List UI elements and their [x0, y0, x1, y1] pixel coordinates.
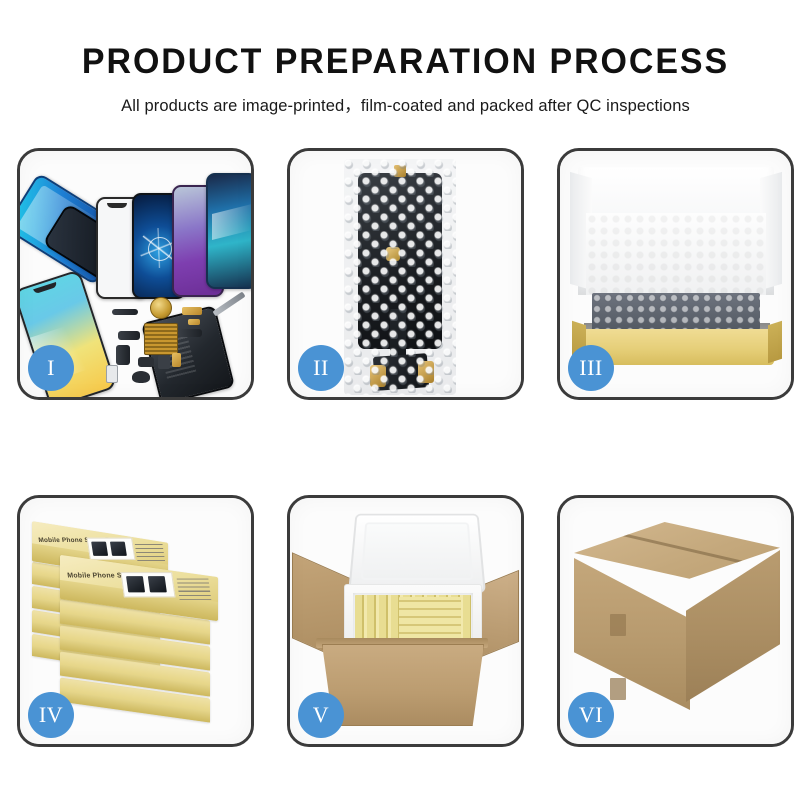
flex-cable-part-1	[112, 309, 138, 315]
box-sticker-rear	[87, 538, 136, 560]
camera-module-part	[132, 371, 150, 383]
carton-front-face	[322, 644, 484, 726]
sealed-carton	[574, 522, 780, 712]
flex-cable-part-2	[118, 331, 140, 340]
box-sticker-front	[121, 572, 176, 597]
flex-cable-part-3	[116, 345, 130, 365]
panel-spare-parts[interactable]: I	[17, 148, 254, 400]
box-side	[60, 691, 210, 723]
gold-boxes-row-2	[399, 597, 461, 640]
panel-badge-5: V	[298, 692, 344, 738]
sticker-product-image-a	[91, 542, 108, 556]
panel-badge-3: III	[568, 345, 614, 391]
process-grid: I II III	[0, 148, 811, 747]
page-header: PRODUCT PREPARATION PROCESS All products…	[0, 0, 811, 116]
gold-connector-part-2	[188, 319, 200, 325]
small-module-part	[138, 357, 154, 367]
carton-left-face	[574, 558, 690, 710]
teal-gradient-phone	[206, 173, 251, 289]
panel-foam-carton[interactable]: V	[287, 495, 524, 747]
panel-badge-1: I	[28, 345, 74, 391]
gold-bracket-part	[172, 353, 181, 367]
gold-coin-part	[150, 297, 172, 319]
panel-badge-4: IV	[28, 692, 74, 738]
foam-box-lid	[348, 514, 486, 593]
box-spec-lines-front	[177, 579, 212, 600]
foam-liner	[586, 213, 766, 295]
page-title: PRODUCT PREPARATION PROCESS	[12, 42, 799, 82]
sticker-product-image-c	[126, 576, 145, 592]
carton-tape-upper	[610, 614, 626, 636]
bubble-wrap-package	[344, 159, 456, 395]
gold-connector-part	[182, 307, 202, 315]
flex-cable-part-4	[178, 329, 202, 337]
panel-boxed-stack[interactable]: Mobile Phone Spare Parts Mobile Pho	[17, 495, 254, 747]
bubble-highlights	[344, 159, 456, 395]
chip-grid-part	[144, 323, 178, 355]
panel-inner-box[interactable]: III	[557, 148, 794, 400]
panel-sealed-carton[interactable]: VI	[557, 495, 794, 747]
sticker-product-image-d	[148, 576, 167, 592]
panel-badge-2: II	[298, 345, 344, 391]
page-subtitle: All products are image-printed，film-coat…	[0, 92, 811, 116]
speaker-part	[158, 355, 170, 369]
sim-tray-part	[106, 365, 118, 383]
panel-badge-6: VI	[568, 692, 614, 738]
panel-bubble-wrap[interactable]: II	[287, 148, 524, 400]
sticker-product-image-b	[110, 542, 127, 556]
carton-tape-lower	[610, 678, 626, 700]
box-spec-lines-rear	[135, 544, 165, 562]
